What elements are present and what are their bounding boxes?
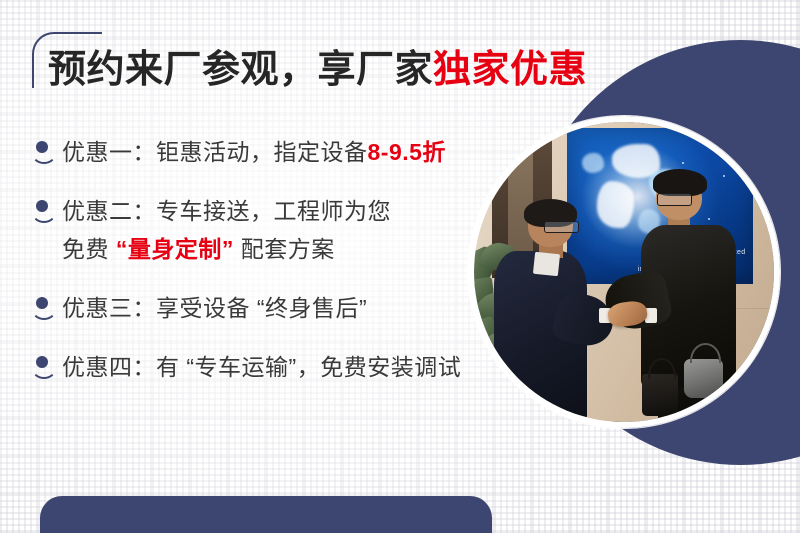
list-item-segment: 优惠二：专车接送，工程师为您 [62,193,391,230]
dot-arc-bullet-icon [30,193,56,223]
list-item-highlight: “量身定制” [116,236,234,262]
list-item: 优惠三：享受设备 “终身售后” [30,290,490,327]
list-item: 优惠四：有 “专车运输”，免费安装调试 [30,349,490,386]
dot-arc-bullet-icon [30,134,56,164]
promo-banner: ited ing United [0,0,800,533]
title-highlight-text: 独家优惠 [433,49,587,91]
right-glasses [657,193,692,206]
page-title: 预约来厂参观，享厂家独家优惠 [48,50,587,92]
dot-arc-bullet-icon [30,290,56,320]
list-item-segment: 优惠三：享受设备 “终身售后” [62,290,367,327]
list-item-text: 优惠一：钜惠活动，指定设备8-9.5折 [62,134,446,171]
list-item-segment: 优惠四：有 “专车运输”，免费安装调试 [62,349,461,386]
grey-handbag [684,359,723,398]
photo-circle: ited ing United [468,116,780,428]
map-node-dot [682,162,684,164]
list-item: 优惠二：专车接送，工程师为您 免费 “量身定制” 配套方案 [30,193,490,268]
bottom-navy-bar [40,496,492,533]
list-item-segment: 优惠一：钜惠活动，指定设备 [62,139,368,165]
list-item-text: 优惠四：有 “专车运输”，免费安装调试 [62,349,461,386]
dark-handbag [642,374,678,416]
businessman-left [489,203,615,422]
list-item-segment: 配套方案 [234,236,335,262]
list-item: 优惠一：钜惠活动，指定设备8-9.5折 [30,134,490,171]
left-shirt-collar [533,252,560,276]
list-item-text: 优惠二：专车接送，工程师为您 免费 “量身定制” 配套方案 [62,193,391,268]
photo-image: ited ing United [474,122,774,422]
list-item-highlight: 8-9.5折 [368,139,446,165]
handshake-scene: ited ing United [474,122,774,422]
left-glasses [544,221,579,234]
dot-arc-bullet-icon [30,349,56,379]
right-hair [653,169,707,196]
map-landmass [582,153,604,173]
list-item-segment: 免费 [62,236,116,262]
title-plain-text: 预约来厂参观，享厂家 [48,49,433,91]
benefits-list: 优惠一：钜惠活动，指定设备8-9.5折 优惠二：专车接送，工程师为您 免费 “量… [30,134,490,408]
list-item-text: 优惠三：享受设备 “终身售后” [62,290,367,327]
